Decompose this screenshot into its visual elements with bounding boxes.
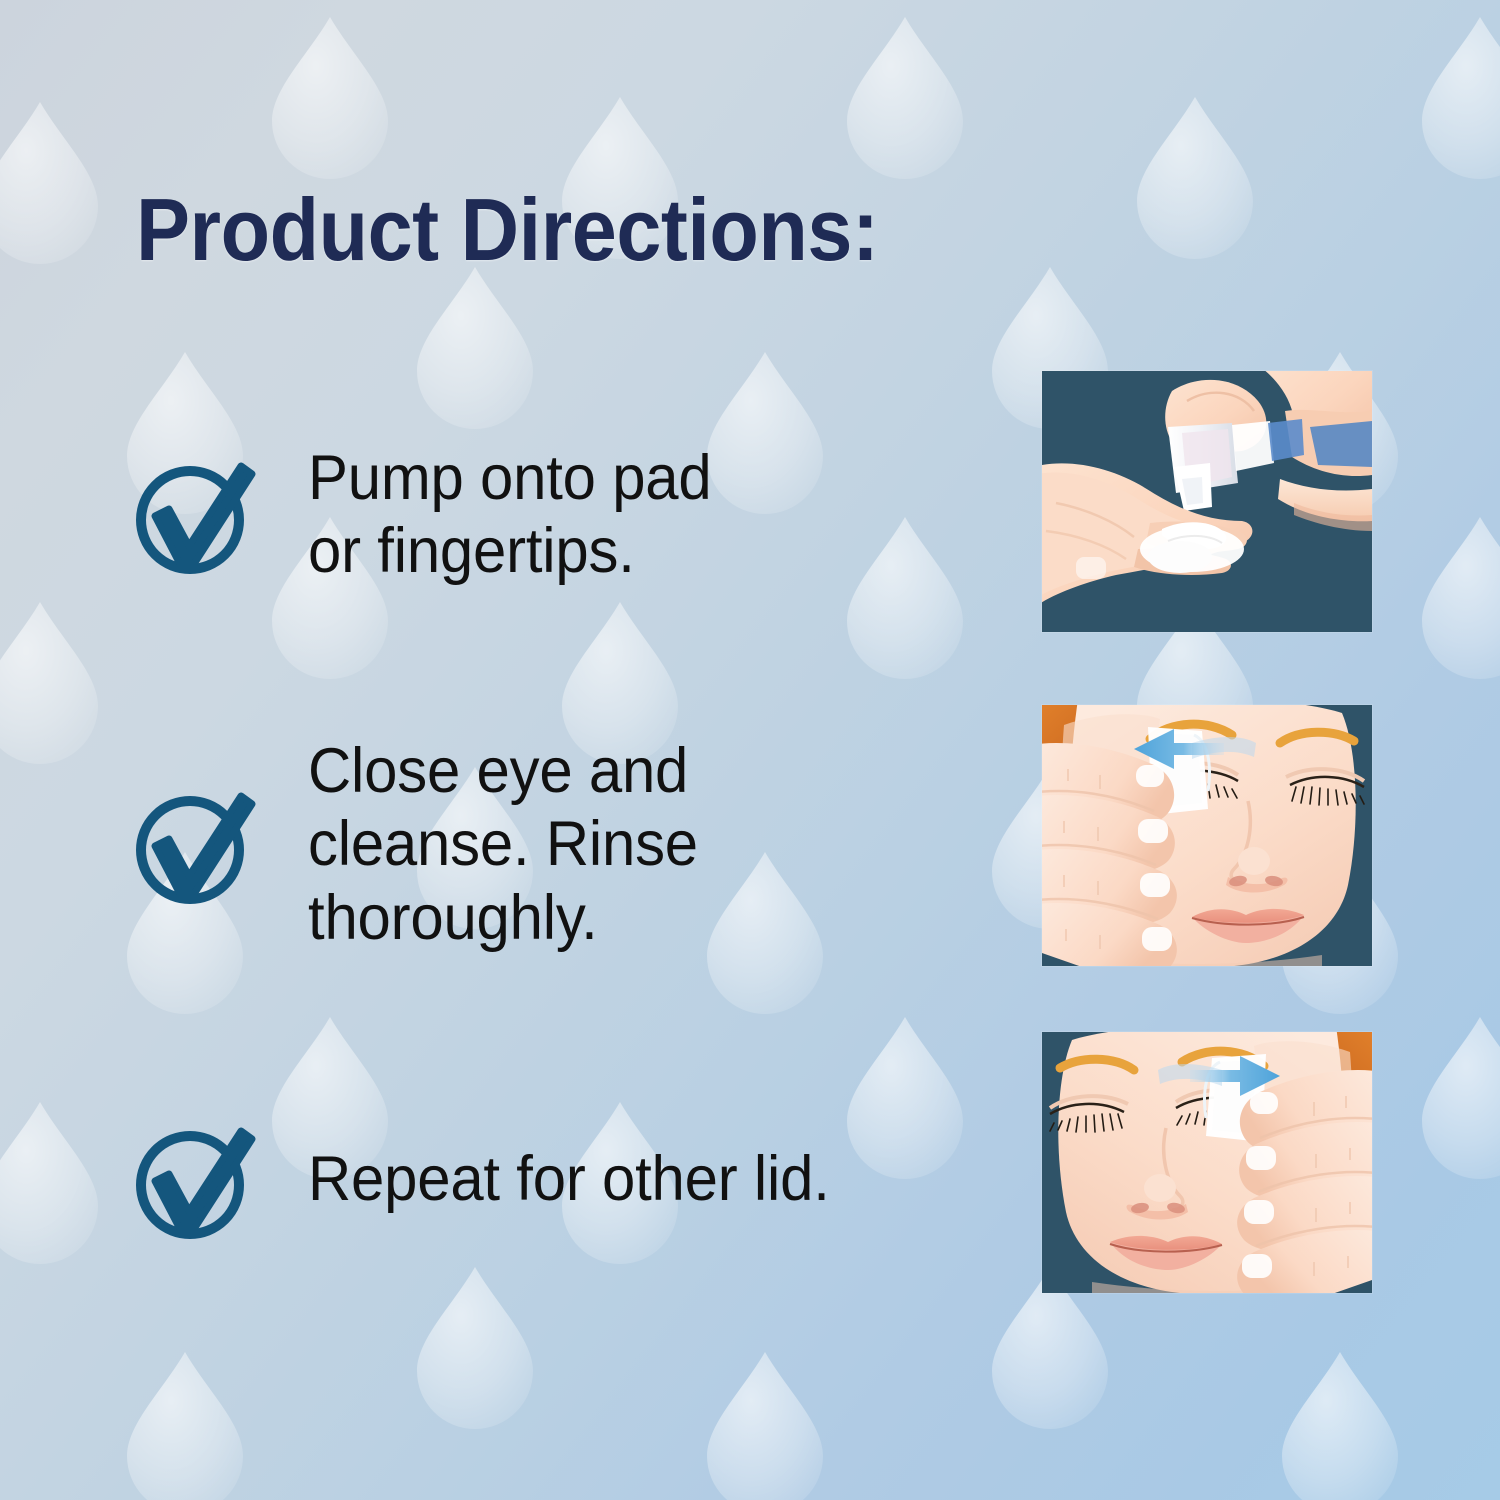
step-1-text: Pump onto pad or fingertips. — [308, 442, 711, 588]
direction-step-3: Repeat for other lid. — [128, 1095, 1028, 1265]
step-3-text: Repeat for other lid. — [308, 1143, 830, 1216]
check-circle-icon — [128, 448, 262, 582]
direction-step-1: Pump onto pad or fingertips. — [128, 430, 1028, 600]
repeat-other-lid-illustration — [1042, 1032, 1372, 1293]
step-2-text: Close eye and cleanse. Rinse thoroughly. — [308, 735, 698, 954]
direction-step-2: Close eye and cleanse. Rinse thoroughly. — [128, 720, 1028, 970]
check-circle-icon — [128, 1113, 262, 1247]
check-circle-icon — [128, 778, 262, 912]
close-eye-and-cleanse-illustration — [1042, 705, 1372, 966]
page-title: Product Directions: — [136, 186, 878, 274]
product-directions-infographic: Product Directions: Pump onto pad or fin… — [0, 0, 1500, 1500]
pump-onto-pad-illustration — [1042, 371, 1372, 632]
